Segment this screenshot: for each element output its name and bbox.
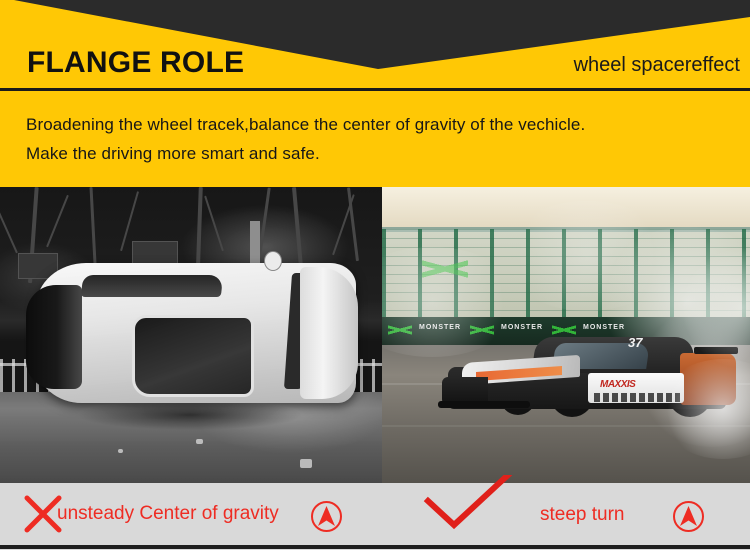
tire-smoke	[502, 201, 672, 311]
street-lamp-post	[250, 221, 260, 267]
footer-right-label: steep turn	[540, 504, 625, 526]
up-arrow-circle-icon	[672, 500, 705, 533]
photo-drifting-car: MONSTER MONSTER MONSTER	[382, 187, 750, 483]
description-line-2: Make the driving more smart and safe.	[26, 144, 320, 164]
page-title: FLANGE ROLE	[27, 46, 244, 80]
car-side-mirror	[264, 251, 282, 271]
up-arrow-circle-icon	[310, 500, 343, 533]
car-sponsor-text: MAXXIS	[600, 379, 670, 391]
header-subtitle: wheel spacereffect	[574, 53, 740, 77]
footer-bar: unsteady Center of gravity steep turn	[0, 483, 750, 550]
header: FLANGE ROLE wheel spacereffect	[0, 0, 750, 91]
car-roof-glass	[81, 275, 223, 297]
footer-bottom-divider	[0, 545, 750, 549]
car-front-splitter	[438, 401, 530, 408]
car-side-window	[132, 315, 254, 397]
road-debris	[300, 459, 312, 468]
car-rear-end	[300, 267, 358, 399]
promo-banner: FLANGE ROLE wheel spacereffect Broadenin…	[0, 0, 750, 550]
check-mark-icon	[422, 475, 514, 531]
road-debris	[118, 449, 123, 453]
road-debris	[196, 439, 203, 444]
photo-row: MONSTER MONSTER MONSTER	[0, 187, 750, 483]
footer-left-label: unsteady Center of gravity	[57, 503, 279, 525]
description-band: Broadening the wheel tracek,balance the …	[0, 91, 750, 187]
car-front-end	[26, 285, 82, 389]
description-line-1: Broadening the wheel tracek,balance the …	[26, 115, 585, 135]
car-race-number: 37	[628, 335, 642, 350]
photo-rolled-over-car	[0, 187, 382, 483]
